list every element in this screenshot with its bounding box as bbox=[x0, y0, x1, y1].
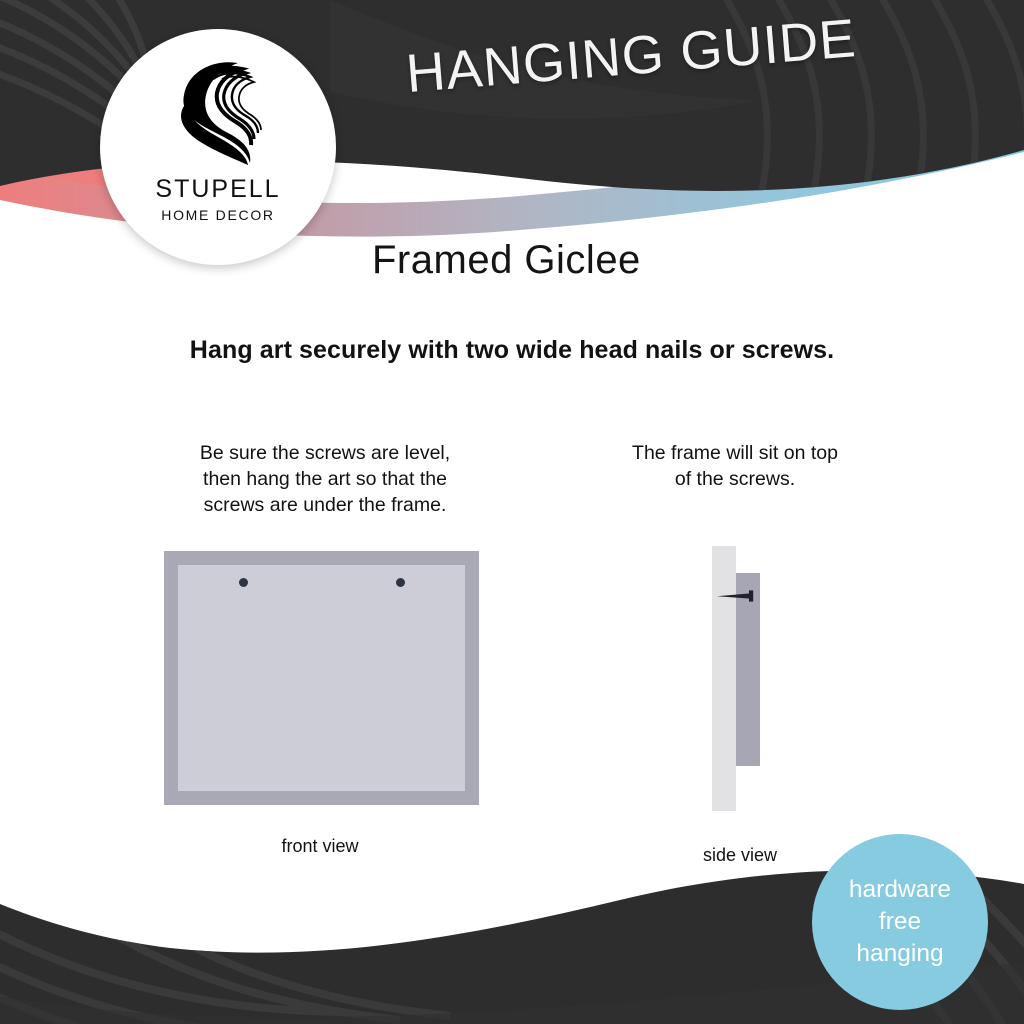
screw-dot-left bbox=[239, 578, 248, 587]
hardware-free-hanging-badge: hardware free hanging bbox=[812, 834, 988, 1010]
hanging-guide-page: STUPELL HOME DECOR HANGING GUIDE Framed … bbox=[0, 0, 1024, 1024]
badge-line-2: free bbox=[879, 906, 921, 938]
badge-line-3: hanging bbox=[856, 938, 943, 970]
product-title: Framed Giclee bbox=[372, 238, 641, 283]
picture-frame-interior bbox=[178, 565, 465, 791]
nail-icon bbox=[716, 590, 760, 602]
wall-bar bbox=[712, 546, 736, 811]
side-view-column: The frame will sit on top of the screws. bbox=[560, 440, 910, 492]
side-view-caption: The frame will sit on top of the screws. bbox=[560, 440, 910, 492]
logo-brand-tagline: HOME DECOR bbox=[161, 207, 274, 223]
screw-dot-right bbox=[396, 578, 405, 587]
lead-instruction: Hang art securely with two wide head nai… bbox=[0, 336, 1024, 365]
logo-brand-name: STUPELL bbox=[155, 175, 280, 204]
front-view-column: Be sure the screws are level, then hang … bbox=[120, 440, 530, 518]
badge-line-1: hardware bbox=[849, 874, 951, 906]
front-view-caption: Be sure the screws are level, then hang … bbox=[120, 440, 530, 518]
front-view-diagram bbox=[164, 551, 479, 805]
side-view-label: side view bbox=[640, 845, 840, 866]
front-view-label: front view bbox=[200, 836, 440, 857]
stupell-swirl-logo-icon bbox=[166, 55, 270, 167]
side-view-diagram bbox=[706, 546, 776, 811]
brand-logo-badge: STUPELL HOME DECOR bbox=[100, 29, 336, 265]
page-title: HANGING GUIDE bbox=[370, 4, 893, 108]
